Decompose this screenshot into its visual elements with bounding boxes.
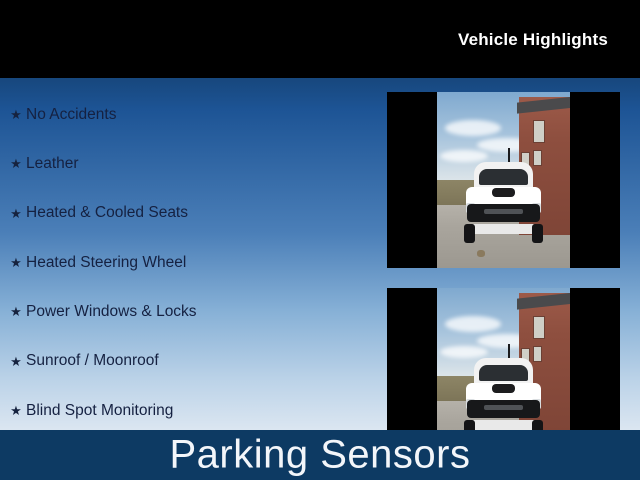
photo-content [437, 92, 570, 268]
building-window [533, 120, 544, 143]
star-icon: ★ [6, 355, 26, 368]
highlight-label: Power Windows & Locks [26, 304, 197, 320]
star-icon: ★ [6, 305, 26, 318]
star-icon: ★ [6, 157, 26, 170]
truck-shape [462, 358, 544, 439]
list-item[interactable]: ★ Leather [0, 139, 380, 188]
cloud-shape [445, 120, 501, 136]
list-item[interactable]: ★ No Accidents [0, 90, 380, 139]
hood-scoop [492, 188, 515, 197]
page-title: Vehicle Highlights [458, 30, 608, 50]
truck-windshield [479, 169, 528, 185]
highlight-label: Heated & Cooled Seats [26, 205, 188, 221]
list-item[interactable]: ★ Power Windows & Locks [0, 287, 380, 336]
wheel-left [464, 224, 475, 243]
truck-bumper [471, 420, 537, 430]
star-icon: ★ [6, 207, 26, 220]
hood-scoop [492, 384, 515, 393]
header-bar: Vehicle Highlights [0, 0, 640, 78]
star-icon: ★ [6, 256, 26, 269]
bottom-banner: Parking Sensors [0, 430, 640, 480]
truck-bumper [471, 224, 537, 234]
wheel-right [532, 224, 543, 243]
truck-windshield [479, 365, 528, 381]
highlight-label: Sunroof / Moonroof [26, 353, 159, 369]
grille-badge [484, 405, 524, 410]
list-item[interactable]: ★ Heated Steering Wheel [0, 238, 380, 287]
vehicle-photo-front-1[interactable] [387, 92, 620, 268]
vehicle-highlights-slide: Vehicle Highlights ★ No Accidents ★ Leat… [0, 0, 640, 480]
banner-title: Parking Sensors [0, 433, 640, 478]
highlight-label: Heated Steering Wheel [26, 255, 186, 271]
list-item[interactable]: ★ Heated & Cooled Seats [0, 189, 380, 238]
highlight-label: No Accidents [26, 107, 116, 123]
star-icon: ★ [6, 108, 26, 121]
highlight-label: Blind Spot Monitoring [26, 403, 173, 419]
cloud-shape [445, 316, 501, 332]
highlight-label: Leather [26, 156, 79, 172]
star-icon: ★ [6, 404, 26, 417]
truck-shape [462, 162, 544, 243]
building-window [533, 316, 544, 339]
list-item[interactable]: ★ Sunroof / Moonroof [0, 336, 380, 385]
list-item[interactable]: ★ Blind Spot Monitoring [0, 386, 380, 435]
ground-debris [477, 250, 485, 257]
grille-badge [484, 209, 524, 214]
vehicle-highlights-list: ★ No Accidents ★ Leather ★ Heated & Cool… [0, 90, 380, 435]
